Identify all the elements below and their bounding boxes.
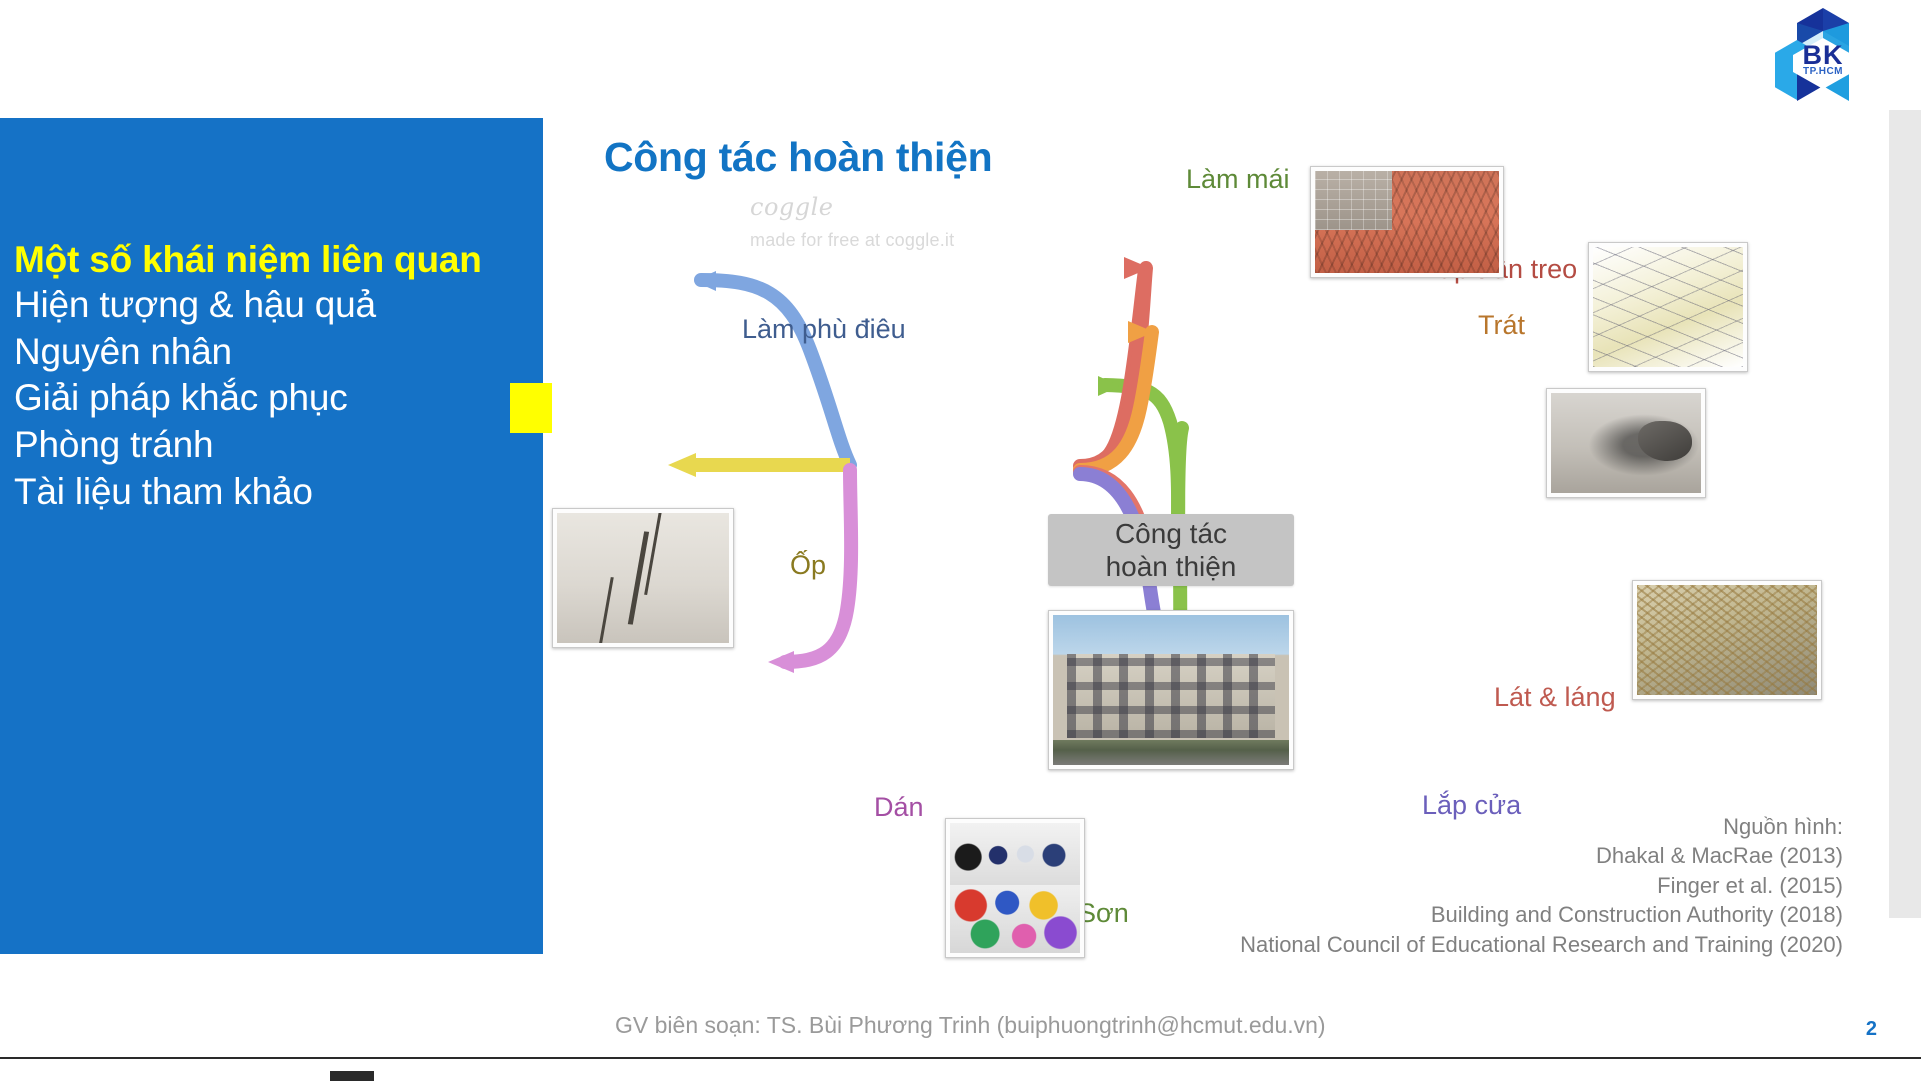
mindmap-label-trat[interactable]: Trát [1478,310,1525,341]
mindmap-center-node[interactable]: Công tác hoàn thiện [1048,514,1294,586]
scroll-strip[interactable] [1889,110,1921,918]
source-entry-2: Building and Construction Authority (201… [1240,900,1843,929]
slide-canvas: BK TP.HCM Một số khái niệm liên quanHiện… [0,0,1921,1081]
footer-tick-mark [330,1071,374,1081]
sidebar-item-0[interactable]: Một số khái niệm liên quan [14,237,534,282]
thumbnail-paint-cans[interactable] [945,818,1085,958]
mindmap-label-op[interactable]: Ốp [790,550,826,581]
thumbnail-building-facade[interactable] [1048,610,1294,770]
thumbnail-plastering[interactable] [1546,388,1706,498]
thumbnail-suspended-ceiling[interactable] [1588,242,1748,372]
source-citation-block: Nguồn hình: Dhakal & MacRae (2013)Finger… [1240,812,1843,959]
center-node-line1: Công tác [1115,517,1227,550]
footer-divider [0,1057,1921,1059]
mindmap-label-son[interactable]: Sơn [1078,898,1129,929]
mindmap-label-dan[interactable]: Dán [874,792,924,823]
bk-logo: BK TP.HCM [1775,6,1871,104]
source-entry-3: National Council of Educational Research… [1240,930,1843,959]
sidebar-item-1[interactable]: Hiện tượng & hậu quả [14,282,534,329]
bk-logo-subtext: TP.HCM [1775,66,1871,77]
mindmap-label-lam-phu-dieu[interactable]: Làm phù điêu [742,314,906,345]
mindmap-label-lat-lang[interactable]: Lát & láng [1494,682,1616,713]
sidebar-outline-list: Một số khái niệm liên quanHiện tượng & h… [14,237,534,515]
mindmap-label-lam-mai[interactable]: Làm mái [1186,164,1290,195]
source-heading: Nguồn hình: [1240,812,1843,841]
footer-author: GV biên soạn: TS. Bùi Phương Trinh (buip… [615,1012,1326,1039]
thumbnail-roof[interactable] [1310,166,1504,278]
source-entry-1: Finger et al. (2015) [1240,871,1843,900]
thumbnail-wall-crack[interactable] [552,508,734,648]
sidebar-item-2[interactable]: Nguyên nhân [14,329,534,376]
sidebar-item-4[interactable]: Phòng tránh [14,422,534,469]
branch-lam-phu-dieu [701,280,850,465]
sidebar-item-5[interactable]: Tài liệu tham khảo [14,469,534,516]
thumbnail-floor-screed[interactable] [1632,580,1822,700]
source-entry-0: Dhakal & MacRae (2013) [1240,841,1843,870]
center-node-line2: hoàn thiện [1106,550,1237,583]
sidebar-item-3[interactable]: Giải pháp khắc phục [14,375,534,422]
page-number: 2 [1866,1018,1877,1041]
